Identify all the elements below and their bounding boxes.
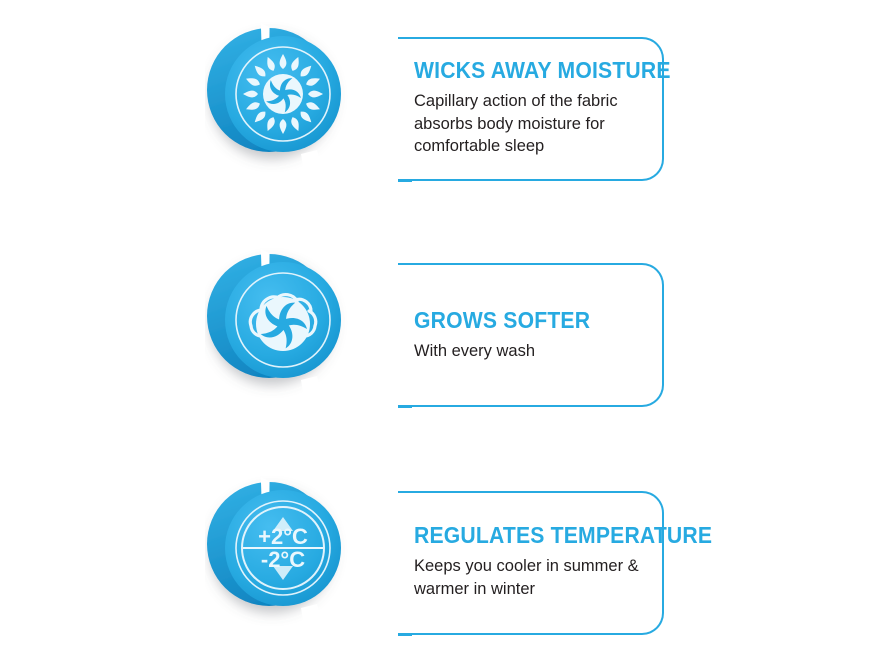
feature-badge	[205, 14, 375, 204]
feature-card-content: GROWS SOFTER With every wash	[414, 308, 644, 362]
feature-card: GROWS SOFTER With every wash	[400, 263, 664, 407]
feature-title: REGULATES TEMPERATURE	[414, 523, 626, 548]
feature-infographic: WICKS AWAY MOISTURE Capillary action of …	[0, 0, 878, 663]
feature-title: WICKS AWAY MOISTURE	[414, 58, 626, 83]
feature-row: WICKS AWAY MOISTURE Capillary action of …	[0, 14, 878, 204]
feature-title: GROWS SOFTER	[414, 308, 626, 333]
temperature-regulation-icon: +2°C -2°C	[205, 468, 375, 658]
feature-description: With every wash	[414, 340, 644, 363]
feature-row: GROWS SOFTER With every wash	[0, 240, 878, 430]
feature-badge	[205, 240, 375, 430]
cloud-swirl-softness-icon	[205, 240, 375, 430]
swirl-glyph	[256, 297, 310, 351]
feature-card: REGULATES TEMPERATURE Keeps you cooler i…	[400, 491, 664, 635]
swirl-glyph	[263, 74, 303, 114]
wicking-droplets-swirl-icon	[205, 14, 375, 204]
feature-card: WICKS AWAY MOISTURE Capillary action of …	[400, 37, 664, 181]
temperature-warm-label: +2°C	[258, 524, 308, 549]
feature-card-content: WICKS AWAY MOISTURE Capillary action of …	[414, 58, 644, 158]
temperature-cool-label: -2°C	[261, 547, 305, 572]
feature-badge: +2°C -2°C	[205, 468, 375, 658]
feature-description: Capillary action of the fabric absorbs b…	[414, 90, 644, 158]
feature-row: +2°C -2°C REGULATES TEMPERATURE Keeps yo…	[0, 468, 878, 658]
feature-card-content: REGULATES TEMPERATURE Keeps you cooler i…	[414, 523, 644, 600]
feature-description: Keeps you cooler in summer & warmer in w…	[414, 555, 644, 600]
